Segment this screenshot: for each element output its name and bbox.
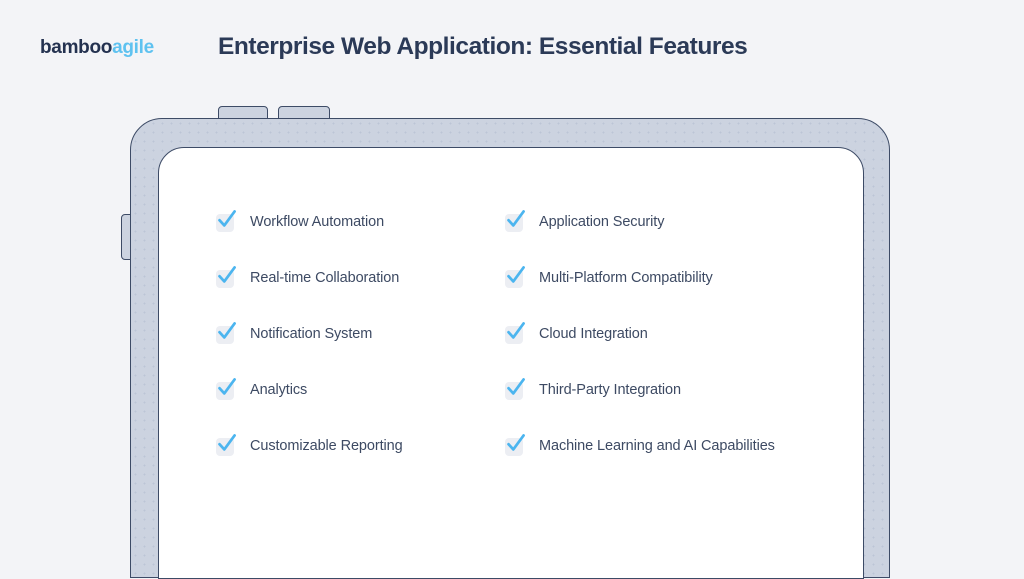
page-title: Enterprise Web Application: Essential Fe… — [218, 33, 747, 61]
checkmark-icon[interactable] — [505, 380, 525, 400]
tablet-bezel: Workflow Automation Real-time Collaborat… — [130, 118, 890, 578]
list-item[interactable]: Third-Party Integration — [505, 378, 775, 402]
list-item-label: Cloud Integration — [539, 326, 648, 342]
checklist-column-right: Application Security Multi-Platform Comp… — [505, 210, 775, 458]
list-item-label: Application Security — [539, 214, 664, 230]
brand-logo[interactable]: bambooagile — [40, 37, 154, 59]
checkmark-icon[interactable] — [216, 436, 236, 456]
list-item-label: Real-time Collaboration — [250, 270, 399, 286]
checkmark-icon[interactable] — [216, 268, 236, 288]
checkmark-icon[interactable] — [505, 436, 525, 456]
list-item-label: Machine Learning and AI Capabilities — [539, 438, 775, 454]
checkmark-icon[interactable] — [505, 324, 525, 344]
list-item-label: Notification System — [250, 326, 372, 342]
checkmark-icon[interactable] — [216, 380, 236, 400]
list-item-label: Third-Party Integration — [539, 382, 681, 398]
list-item-label: Workflow Automation — [250, 214, 384, 230]
tablet-device: Workflow Automation Real-time Collaborat… — [130, 118, 890, 578]
list-item[interactable]: Application Security — [505, 210, 775, 234]
list-item[interactable]: Notification System — [216, 322, 403, 346]
checklist-column-left: Workflow Automation Real-time Collaborat… — [216, 210, 403, 458]
checkmark-icon[interactable] — [216, 212, 236, 232]
checkmark-icon[interactable] — [505, 268, 525, 288]
page-header: bambooagile Enterprise Web Application: … — [0, 0, 1024, 100]
list-item[interactable]: Real-time Collaboration — [216, 266, 403, 290]
list-item[interactable]: Machine Learning and AI Capabilities — [505, 434, 775, 458]
feature-checklist: Workflow Automation Real-time Collaborat… — [159, 148, 864, 579]
list-item[interactable]: Workflow Automation — [216, 210, 403, 234]
checkmark-icon[interactable] — [505, 212, 525, 232]
list-item-label: Customizable Reporting — [250, 438, 403, 454]
checkmark-icon[interactable] — [216, 324, 236, 344]
list-item-label: Analytics — [250, 382, 307, 398]
list-item[interactable]: Multi-Platform Compatibility — [505, 266, 775, 290]
list-item[interactable]: Customizable Reporting — [216, 434, 403, 458]
list-item-label: Multi-Platform Compatibility — [539, 270, 713, 286]
tablet-screen: Workflow Automation Real-time Collaborat… — [158, 147, 864, 579]
logo-word-secondary: agile — [112, 37, 154, 58]
list-item[interactable]: Analytics — [216, 378, 403, 402]
list-item[interactable]: Cloud Integration — [505, 322, 775, 346]
logo-word-primary: bamboo — [40, 37, 112, 58]
